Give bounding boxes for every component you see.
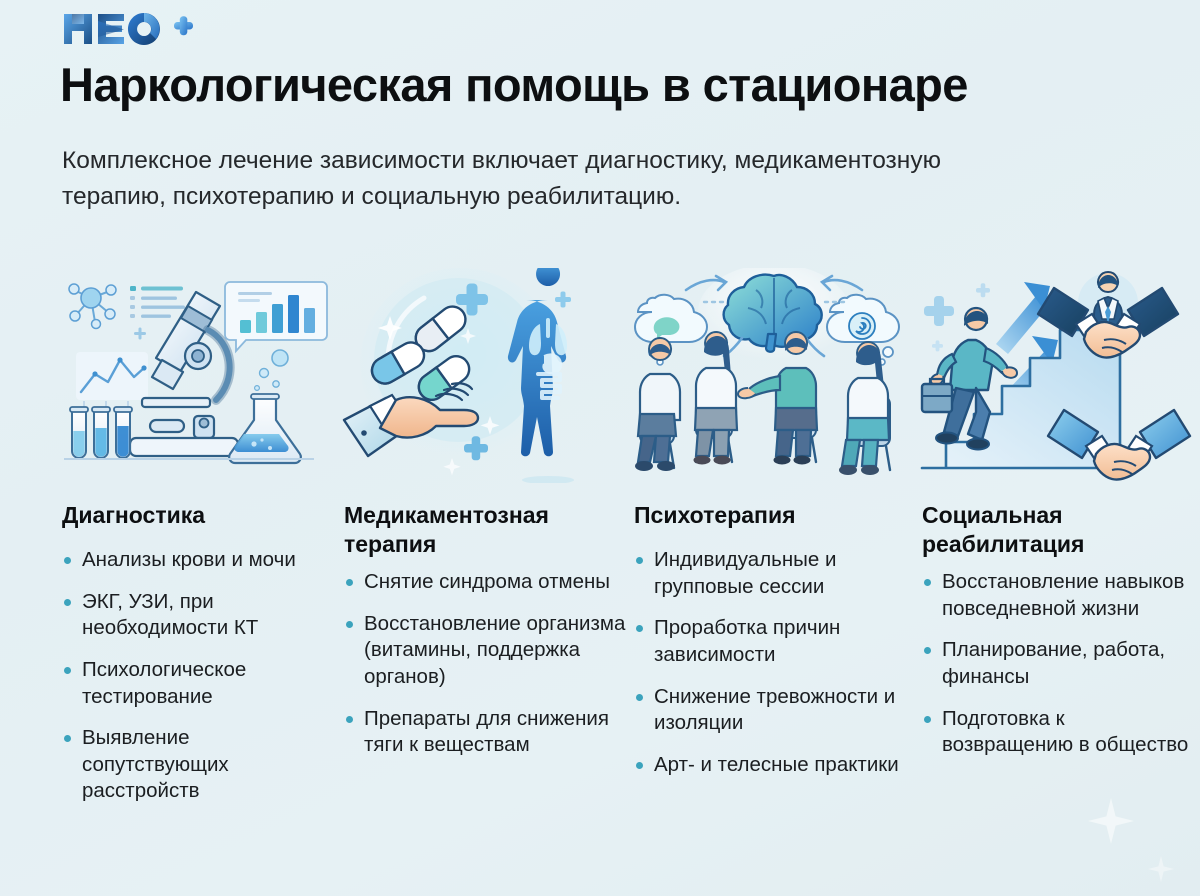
column-psychotherapy: Психотерапия Индивидуальные и групповые …: [630, 268, 918, 820]
service-columns: Диагностика Анализы крови и мочи ЭКГ, УЗ…: [0, 268, 1200, 820]
list-item: Снижение тревожности и изоляции: [634, 684, 918, 737]
list-item: Проработка причин зависимости: [634, 615, 918, 668]
column-social-rehab: Социальная реабилитация Восстановление н…: [918, 268, 1200, 820]
column-title: Диагностика: [58, 501, 338, 530]
list-item: Индивидуальные и групповые сессии: [634, 547, 918, 600]
list-item: Препараты для снижения тяги к веществам: [344, 706, 630, 759]
column-diagnostics: Диагностика Анализы крови и мочи ЭКГ, УЗ…: [58, 268, 338, 820]
medication-therapy-illustration: [340, 268, 630, 483]
plus-icon: [932, 340, 943, 351]
lab-diagnostics-illustration: [58, 268, 338, 483]
list-item: Анализы крови и мочи: [62, 547, 338, 574]
page-subtitle: Комплексное лечение зависимости включает…: [62, 143, 962, 215]
flask-icon: [229, 350, 301, 463]
list-item: Восстановление организма (витамины, подд…: [344, 611, 630, 691]
page-title: Наркологическая помощь в стационаре: [60, 57, 968, 112]
group-therapy-illustration: [630, 268, 918, 483]
social-rehab-illustration: [918, 268, 1200, 483]
medical-cross-icon: [555, 292, 571, 308]
list-item: Подготовка к возвращению в общество: [922, 706, 1200, 759]
test-tubes-icon: [70, 407, 132, 458]
list-item: ЭКГ, УЗИ, при необходимости КТ: [62, 589, 338, 642]
list-item: Арт- и телесные практики: [634, 752, 918, 779]
bar-chart-bubble-icon: [225, 282, 327, 351]
bullet-list: Анализы крови и мочи ЭКГ, УЗИ, при необх…: [58, 547, 338, 805]
column-title: Психотерапия: [630, 501, 918, 530]
list-item: Выявление сопутствующих расстройств: [62, 725, 338, 805]
bullet-list: Индивидуальные и групповые сессии Прораб…: [630, 547, 918, 778]
medical-cross-icon: [924, 296, 954, 326]
seated-people-icon: [635, 338, 680, 471]
checklist-icon: [130, 286, 185, 318]
line-chart-icon: [76, 352, 148, 410]
thought-bubble-icon: [635, 295, 707, 365]
list-item: Психологическое тестирование: [62, 657, 338, 710]
list-item: Снятие синдрома отмены: [344, 569, 630, 596]
plus-icon: [134, 328, 146, 340]
bullet-list: Восстановление навыков повседневной жизн…: [918, 569, 1200, 759]
neo-plus-logo-icon: [62, 10, 194, 48]
sparkle-decoration: [1148, 856, 1174, 882]
plus-icon: [976, 283, 990, 297]
list-item: Восстановление навыков повседневной жизн…: [922, 569, 1200, 622]
list-item: Планирование, работа, финансы: [922, 637, 1200, 690]
brand-logo: [62, 10, 194, 48]
column-title: Социальная реабилитация: [918, 501, 1200, 559]
column-title: Медикаментозная терапия: [340, 501, 630, 559]
bullet-list: Снятие синдрома отмены Восстановление ор…: [340, 569, 630, 759]
column-medication-therapy: Медикаментозная терапия Снятие синдрома …: [340, 268, 630, 820]
